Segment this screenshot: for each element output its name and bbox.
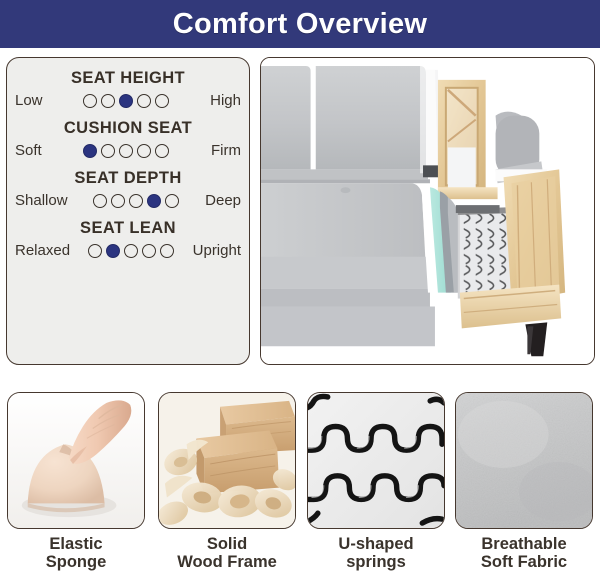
sofa-cutaway-panel bbox=[260, 57, 595, 365]
rating-dot-5[interactable] bbox=[165, 194, 179, 208]
spec-title-seat-lean: SEAT LEAN bbox=[7, 219, 249, 238]
feature-image-frame bbox=[455, 392, 593, 529]
rating-dot-1[interactable] bbox=[83, 94, 97, 108]
rating-dot-5[interactable] bbox=[160, 244, 174, 258]
spec-row-seat-lean: Relaxed Upright bbox=[7, 242, 249, 259]
feature-label-solid-wood-frame: Solid Wood Frame bbox=[158, 535, 296, 572]
spec-right-label-cushion-seat: Firm bbox=[211, 142, 241, 159]
sofa-cutaway-photo bbox=[261, 58, 594, 364]
feature-label-line1: Solid bbox=[158, 535, 296, 553]
rating-dot-4[interactable] bbox=[142, 244, 156, 258]
spec-row-seat-depth: Shallow Deep bbox=[7, 192, 249, 209]
rating-dot-1-selected[interactable] bbox=[83, 144, 97, 158]
grey-fabric-swatch-photo bbox=[456, 393, 592, 528]
feature-image-frame bbox=[158, 392, 296, 529]
spec-group-seat-height: SEAT HEIGHT Low High bbox=[7, 69, 249, 109]
feature-card-breathable-soft-fabric[interactable]: Breathable Soft Fabric bbox=[455, 392, 593, 572]
rating-dots-seat-lean[interactable] bbox=[70, 244, 193, 258]
page-header: Comfort Overview bbox=[0, 0, 600, 48]
feature-label-line2: Wood Frame bbox=[158, 553, 296, 571]
rating-dot-5[interactable] bbox=[155, 144, 169, 158]
feature-card-elastic-sponge[interactable]: Elastic Sponge bbox=[7, 392, 145, 572]
page-title: Comfort Overview bbox=[173, 10, 428, 39]
serpentine-springs-photo bbox=[308, 393, 444, 528]
rating-dots-seat-depth[interactable] bbox=[68, 194, 206, 208]
rating-dot-3-selected[interactable] bbox=[119, 94, 133, 108]
feature-label-line1: Breathable bbox=[455, 535, 593, 553]
spec-right-label-seat-lean: Upright bbox=[193, 242, 241, 259]
feature-label-breathable-soft-fabric: Breathable Soft Fabric bbox=[455, 535, 593, 572]
wood-beams-shavings-photo bbox=[159, 393, 295, 528]
feature-card-u-shaped-springs[interactable]: U-shaped springs bbox=[307, 392, 445, 572]
feature-card-solid-wood-frame[interactable]: Solid Wood Frame bbox=[158, 392, 296, 572]
rating-dot-1[interactable] bbox=[88, 244, 102, 258]
feature-image-frame bbox=[307, 392, 445, 529]
spec-group-seat-lean: SEAT LEAN Relaxed Upright bbox=[7, 219, 249, 259]
spec-row-seat-height: Low High bbox=[7, 92, 249, 109]
feature-label-elastic-sponge: Elastic Sponge bbox=[7, 535, 145, 572]
feature-label-line2: springs bbox=[307, 553, 445, 571]
spec-left-label-seat-depth: Shallow bbox=[15, 192, 68, 209]
rating-dot-2-selected[interactable] bbox=[106, 244, 120, 258]
feature-label-line2: Soft Fabric bbox=[455, 553, 593, 571]
comfort-spec-panel: SEAT HEIGHT Low High CUSHION SEAT Soft bbox=[6, 57, 250, 365]
rating-dot-4-selected[interactable] bbox=[147, 194, 161, 208]
spec-left-label-seat-lean: Relaxed bbox=[15, 242, 70, 259]
spec-group-seat-depth: SEAT DEPTH Shallow Deep bbox=[7, 169, 249, 209]
spec-row-cushion-seat: Soft Firm bbox=[7, 142, 249, 159]
rating-dot-4[interactable] bbox=[137, 94, 151, 108]
spec-group-cushion-seat: CUSHION SEAT Soft Firm bbox=[7, 119, 249, 159]
feature-label-line1: U-shaped bbox=[307, 535, 445, 553]
rating-dot-4[interactable] bbox=[137, 144, 151, 158]
spec-right-label-seat-height: High bbox=[210, 92, 241, 109]
feature-card-row: Elastic Sponge bbox=[0, 392, 600, 583]
rating-dot-3[interactable] bbox=[129, 194, 143, 208]
feature-label-u-shaped-springs: U-shaped springs bbox=[307, 535, 445, 572]
foam-finger-press-photo bbox=[8, 393, 144, 528]
rating-dot-1[interactable] bbox=[93, 194, 107, 208]
rating-dot-2[interactable] bbox=[101, 94, 115, 108]
spec-left-label-seat-height: Low bbox=[15, 92, 43, 109]
rating-dot-5[interactable] bbox=[155, 94, 169, 108]
feature-label-line1: Elastic bbox=[7, 535, 145, 553]
rating-dot-2[interactable] bbox=[101, 144, 115, 158]
feature-label-line2: Sponge bbox=[7, 553, 145, 571]
spec-left-label-cushion-seat: Soft bbox=[15, 142, 42, 159]
rating-dot-3[interactable] bbox=[119, 144, 133, 158]
rating-dots-cushion-seat[interactable] bbox=[42, 144, 211, 158]
spec-right-label-seat-depth: Deep bbox=[205, 192, 241, 209]
spec-title-seat-depth: SEAT DEPTH bbox=[7, 169, 249, 188]
rating-dot-2[interactable] bbox=[111, 194, 125, 208]
rating-dots-seat-height[interactable] bbox=[43, 94, 211, 108]
feature-image-frame bbox=[7, 392, 145, 529]
rating-dot-3[interactable] bbox=[124, 244, 138, 258]
spec-title-cushion-seat: CUSHION SEAT bbox=[7, 119, 249, 138]
spec-title-seat-height: SEAT HEIGHT bbox=[7, 69, 249, 88]
